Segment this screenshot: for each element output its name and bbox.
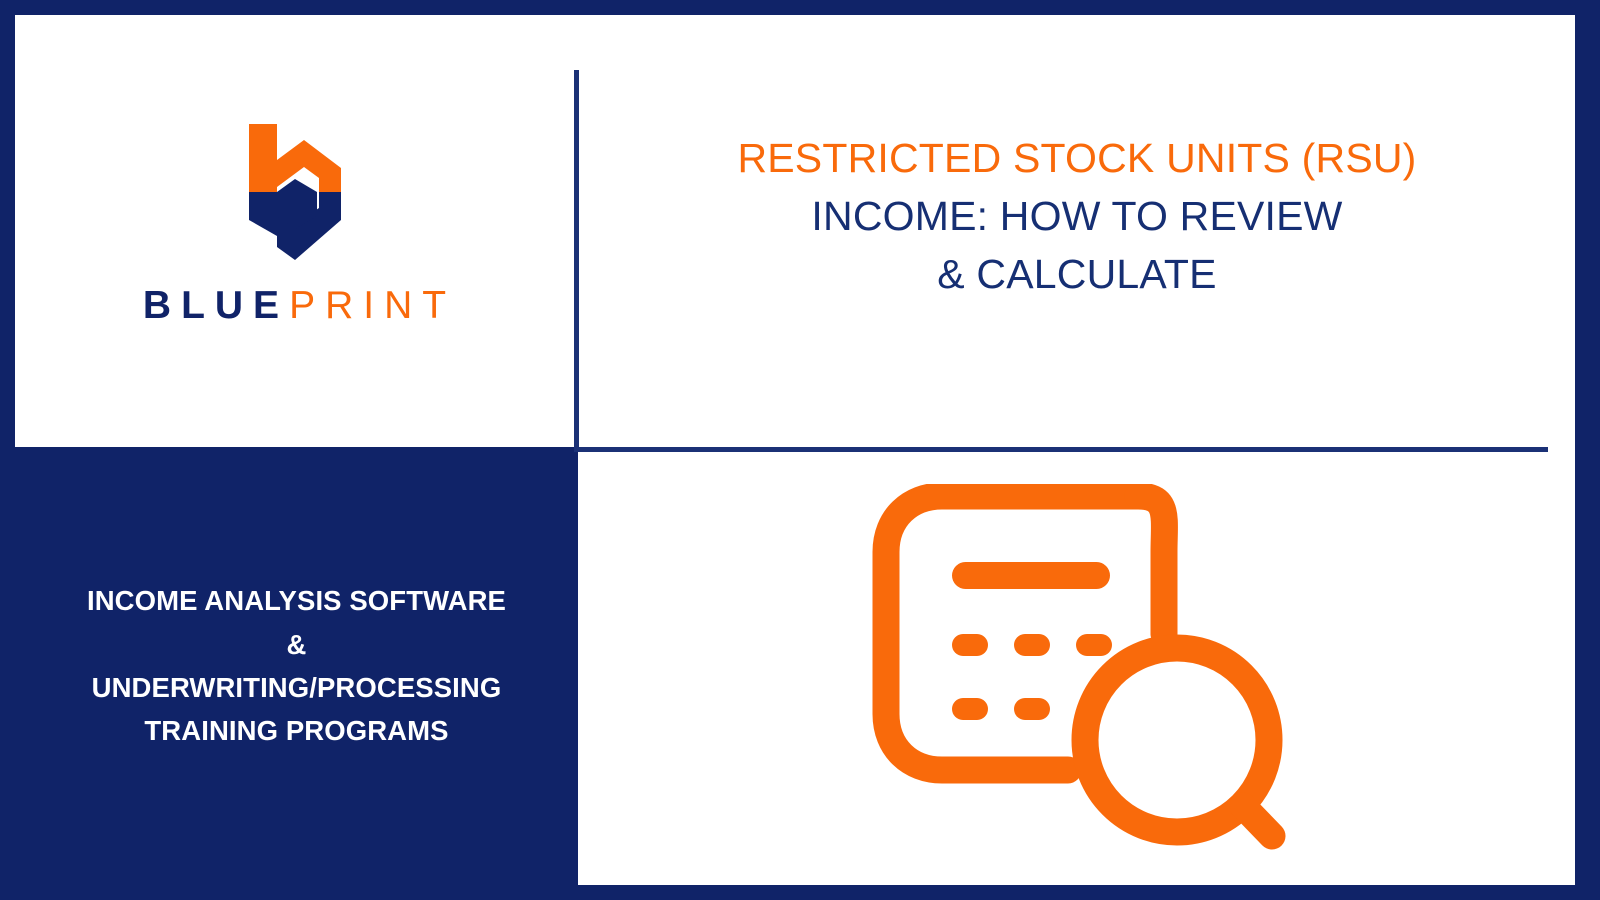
illustration-block bbox=[579, 452, 1575, 885]
tagline-line-3: UNDERWRITING/PROCESSING bbox=[92, 666, 502, 709]
title-block: RESTRICTED STOCK UNITS (RSU) INCOME: HOW… bbox=[579, 15, 1575, 447]
calculator-display bbox=[952, 562, 1110, 589]
blueprint-hexagon-monogram-icon bbox=[231, 116, 359, 268]
slide-canvas: BLUEPRINT RESTRICTED STOCK UNITS (RSU) I… bbox=[15, 15, 1575, 885]
calculator-key-4 bbox=[952, 698, 988, 720]
calculator-with-magnifier-icon bbox=[872, 484, 1292, 866]
brand-logo-block: BLUEPRINT bbox=[15, 15, 574, 447]
calculator-key-1 bbox=[952, 634, 988, 656]
magnifier-handle bbox=[1243, 806, 1272, 836]
title-line-2: INCOME: HOW TO REVIEW bbox=[811, 187, 1342, 245]
wordmark-blue: BLUE bbox=[143, 284, 289, 327]
tagline-line-1: INCOME ANALYSIS SOFTWARE bbox=[87, 579, 506, 622]
calculator-body-left bbox=[886, 496, 1138, 770]
wordmark-print: PRINT bbox=[289, 284, 456, 327]
brand-wordmark: BLUEPRINT bbox=[133, 286, 456, 325]
title-line-3: & CALCULATE bbox=[937, 245, 1216, 303]
title-line-1: RESTRICTED STOCK UNITS (RSU) bbox=[737, 129, 1416, 187]
calculator-key-5 bbox=[1014, 698, 1050, 720]
calculator-key-2 bbox=[1014, 634, 1050, 656]
tagline-line-2: & bbox=[287, 623, 307, 666]
calculator-key-3 bbox=[1076, 634, 1112, 656]
calculator-body-right bbox=[1138, 496, 1164, 634]
tagline-line-4: TRAINING PROGRAMS bbox=[144, 709, 448, 752]
tagline-block: INCOME ANALYSIS SOFTWARE & UNDERWRITING/… bbox=[15, 447, 578, 885]
slide-root: BLUEPRINT RESTRICTED STOCK UNITS (RSU) I… bbox=[0, 0, 1600, 900]
